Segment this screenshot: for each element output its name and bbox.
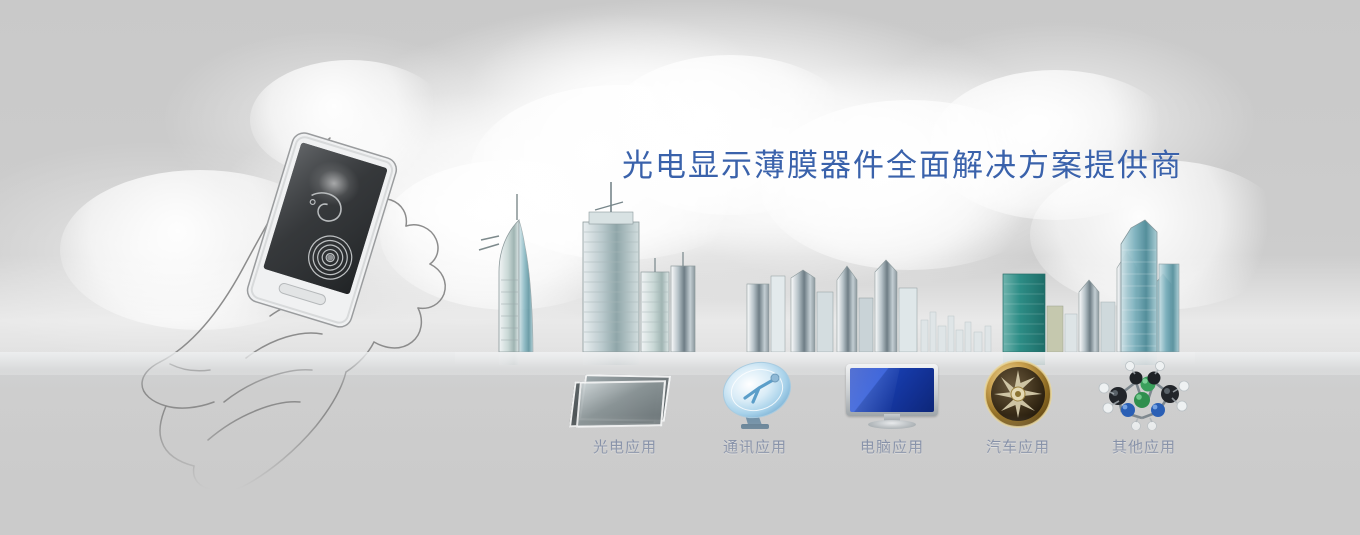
bottom-fade <box>0 415 1360 535</box>
page-title: 光电显示薄膜器件全面解决方案提供商 <box>622 140 1183 185</box>
hero-banner: 光电显示薄膜器件全面解决方案提供商 <box>0 0 1360 535</box>
city-skyline-illustration <box>455 180 1195 365</box>
